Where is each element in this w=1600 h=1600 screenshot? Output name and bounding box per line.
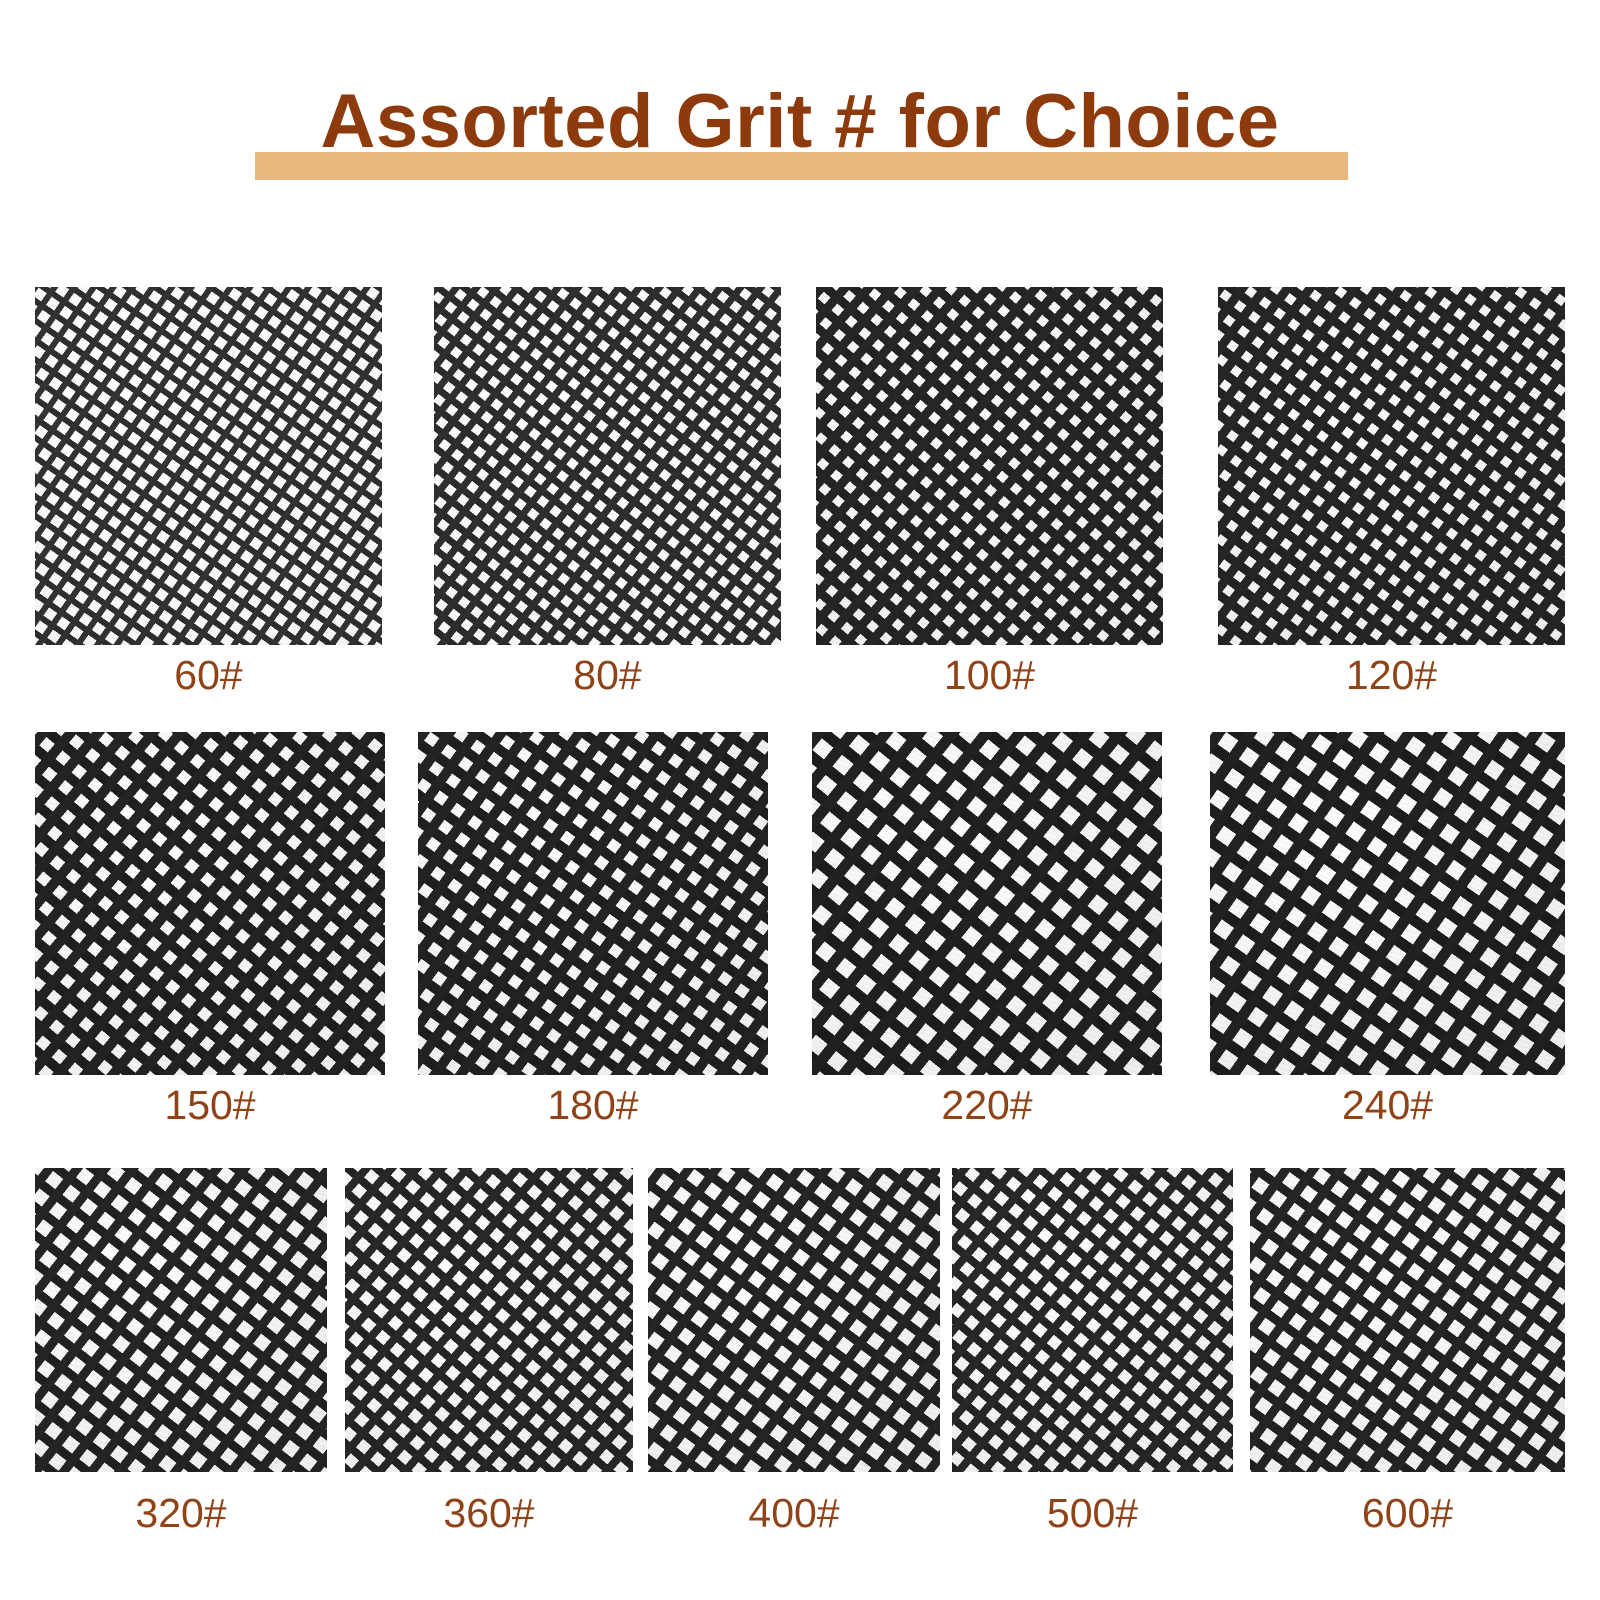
- grit-row-1: 60#80#100#120#: [0, 287, 1600, 712]
- mesh-texture: [1250, 1168, 1565, 1472]
- grit-sample-220[interactable]: 220#: [812, 732, 1162, 1075]
- grit-sample-600[interactable]: 600#: [1250, 1168, 1565, 1472]
- mesh-texture: [35, 732, 385, 1075]
- mesh-texture: [434, 287, 781, 645]
- grit-sample-320[interactable]: 320#: [35, 1168, 327, 1472]
- mesh-texture: [952, 1168, 1233, 1472]
- mesh-swatch-image: [1218, 287, 1565, 645]
- mesh-texture: [35, 287, 382, 645]
- mesh-texture: [1218, 287, 1565, 645]
- grit-row-2: 150#180#220#240#: [0, 732, 1600, 1142]
- grit-label: 600#: [1250, 1490, 1565, 1537]
- grit-sample-80[interactable]: 80#: [434, 287, 781, 645]
- mesh-swatch-image: [434, 287, 781, 645]
- grit-label: 180#: [418, 1082, 768, 1129]
- grit-sample-60[interactable]: 60#: [35, 287, 382, 645]
- grit-label: 500#: [952, 1490, 1233, 1537]
- mesh-swatch-image: [1250, 1168, 1565, 1472]
- mesh-texture: [35, 1168, 327, 1472]
- mesh-swatch-image: [1210, 732, 1565, 1075]
- grit-label: 360#: [345, 1490, 633, 1537]
- grit-sample-360[interactable]: 360#: [345, 1168, 633, 1472]
- grit-label: 60#: [35, 652, 382, 699]
- grit-label: 120#: [1218, 652, 1565, 699]
- mesh-swatch-image: [816, 287, 1163, 645]
- mesh-swatch-image: [418, 732, 768, 1075]
- grit-label: 400#: [648, 1490, 940, 1537]
- mesh-texture: [345, 1168, 633, 1472]
- mesh-texture: [648, 1168, 940, 1472]
- grit-sample-500[interactable]: 500#: [952, 1168, 1233, 1472]
- mesh-texture: [812, 732, 1162, 1075]
- grit-sample-240[interactable]: 240#: [1210, 732, 1565, 1075]
- grit-sample-100[interactable]: 100#: [816, 287, 1163, 645]
- grit-label: 240#: [1210, 1082, 1565, 1129]
- grit-label: 320#: [35, 1490, 327, 1537]
- grit-sample-150[interactable]: 150#: [35, 732, 385, 1075]
- mesh-swatch-image: [812, 732, 1162, 1075]
- mesh-texture: [418, 732, 768, 1075]
- mesh-texture: [816, 287, 1163, 645]
- grit-row-3: 320#360#400#500#600#: [0, 1168, 1600, 1550]
- mesh-swatch-image: [35, 287, 382, 645]
- page-header: Assorted Grit # for Choice: [0, 72, 1600, 192]
- mesh-swatch-image: [35, 732, 385, 1075]
- mesh-swatch-image: [648, 1168, 940, 1472]
- grit-sample-400[interactable]: 400#: [648, 1168, 940, 1472]
- grit-sample-120[interactable]: 120#: [1218, 287, 1565, 645]
- grit-label: 150#: [35, 1082, 385, 1129]
- grit-sample-180[interactable]: 180#: [418, 732, 768, 1075]
- mesh-swatch-image: [345, 1168, 633, 1472]
- grit-label: 220#: [812, 1082, 1162, 1129]
- mesh-swatch-image: [952, 1168, 1233, 1472]
- page-title: Assorted Grit # for Choice: [0, 72, 1600, 172]
- grit-label: 80#: [434, 652, 781, 699]
- grit-label: 100#: [816, 652, 1163, 699]
- mesh-texture: [1210, 732, 1565, 1075]
- mesh-swatch-image: [35, 1168, 327, 1472]
